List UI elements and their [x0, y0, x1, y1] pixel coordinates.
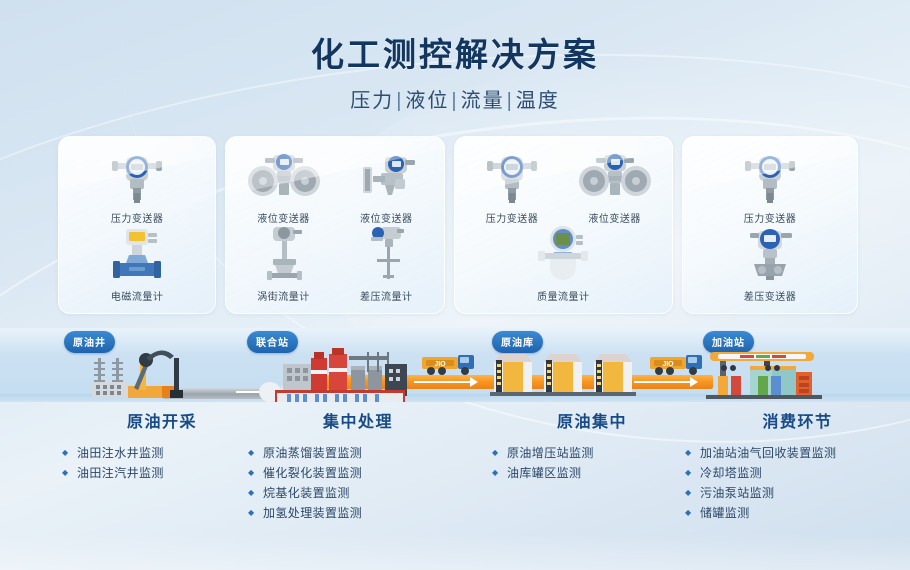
truck-label: JIO	[434, 361, 446, 368]
product-label: 液位变送器	[588, 210, 641, 225]
product-label: 液位变送器	[257, 210, 310, 225]
stage-block-2: 集中处理 原油蒸馏装置监测 催化裂化装置监测 烷基化装置监测 加氢处理装置监测	[248, 408, 468, 523]
product-label: 质量流量计	[537, 288, 590, 303]
poster-canvas: 化工测控解决方案 压力|液位|流量|温度	[0, 0, 910, 570]
subtitle-pressure: 压力	[350, 90, 394, 112]
list-item: 加氢处理装置监测	[248, 503, 468, 523]
subtitle-flow: 流量	[461, 90, 505, 112]
product-item[interactable]: 压力变送器	[719, 147, 821, 225]
flow-arrow-icon	[634, 381, 690, 383]
page-header: 化工测控解决方案 压力|液位|流量|温度	[0, 36, 910, 113]
stage-block-1: 原油开采 油田注水井监测 油田注汽井监测	[62, 408, 262, 483]
flow-arrow-icon	[414, 381, 470, 383]
product-item[interactable]: 液位变送器	[233, 147, 335, 225]
product-item[interactable]: 涡街流量计	[233, 225, 335, 303]
page-subtitle: 压力|液位|流量|温度	[0, 84, 910, 113]
subtitle-separator-1: |	[394, 90, 405, 112]
product-label: 压力变送器	[486, 210, 539, 225]
list-item: 冷却塔监测	[685, 463, 910, 483]
pressure-transmitter-icon	[483, 147, 541, 205]
product-card-4[interactable]: 压力变送器	[682, 136, 858, 314]
list-item: 烷基化装置监测	[248, 483, 468, 503]
product-item[interactable]: 压力变送器	[461, 147, 563, 225]
bottom-fade	[0, 534, 910, 570]
stage-title: 集中处理	[248, 408, 468, 432]
list-item: 污油泵站监测	[685, 483, 910, 503]
product-label: 压力变送器	[744, 210, 797, 225]
list-item: 油库罐区监测	[492, 463, 692, 483]
list-item: 油田注汽井监测	[62, 463, 262, 483]
list-item: 原油蒸馏装置监测	[248, 443, 468, 463]
list-item: 加油站油气回收装置监测	[685, 443, 910, 463]
product-item[interactable]: 压力变送器	[86, 147, 188, 225]
product-row: 压力变送器	[65, 147, 209, 225]
product-item[interactable]: 电磁流量计	[86, 225, 188, 303]
level-transmitter-flange-icon	[245, 147, 323, 205]
stage-bullet-list: 原油蒸馏装置监测 催化裂化装置监测 烷基化装置监测 加氢处理装置监测	[248, 443, 468, 523]
product-row: 涡街流量计	[232, 225, 437, 303]
stage-block-4: 消费环节 加油站油气回收装置监测 冷却塔监测 污油泵站监测 储罐监测	[685, 408, 910, 523]
stage-bullet-list: 油田注水井监测 油田注汽井监测	[62, 443, 262, 483]
subtitle-separator-2: |	[449, 90, 460, 112]
stage-title: 原油开采	[62, 408, 262, 432]
product-label: 差压流量计	[360, 288, 413, 303]
stage-bullet-list: 加油站油气回收装置监测 冷却塔监测 污油泵站监测 储罐监测	[685, 443, 910, 523]
differential-pressure-transmitter-icon	[740, 225, 800, 283]
product-row: 质量流量计	[461, 225, 666, 303]
page-title: 化工测控解决方案	[0, 36, 910, 74]
product-card-2[interactable]: 液位变送器	[225, 136, 444, 314]
subtitle-temperature: 温度	[516, 90, 560, 112]
vortex-flowmeter-icon	[255, 225, 313, 283]
process-flow-illustration: 原油井 联合站	[0, 328, 910, 402]
product-item[interactable]: 质量流量计	[512, 225, 614, 303]
list-item: 储罐监测	[685, 503, 910, 523]
product-row: 差压变送器	[689, 225, 851, 303]
product-label: 差压变送器	[744, 288, 797, 303]
subtitle-separator-3: |	[505, 90, 516, 112]
product-card-row: 压力变送器	[58, 136, 858, 314]
product-row: 压力变送器	[461, 147, 666, 225]
gas-station-illustration	[700, 346, 840, 402]
list-item: 油田注水井监测	[62, 443, 262, 463]
tanker-truck-icon: JIO	[420, 354, 478, 376]
list-item: 原油增压站监测	[492, 443, 692, 463]
product-label: 压力变送器	[111, 210, 164, 225]
product-row: 液位变送器	[232, 147, 437, 225]
differential-pressure-flowmeter-icon	[357, 225, 415, 283]
product-card-1[interactable]: 压力变送器	[58, 136, 216, 314]
mass-flowmeter-icon	[532, 225, 594, 283]
product-item[interactable]: 液位变送器	[564, 147, 666, 225]
level-transmitter-flange-icon	[576, 147, 654, 205]
product-item[interactable]: 差压流量计	[335, 225, 437, 303]
product-item[interactable]: 差压变送器	[719, 225, 821, 303]
level-transmitter-single-flange-icon	[351, 147, 421, 205]
electromagnetic-flowmeter-icon	[107, 225, 167, 283]
pressure-transmitter-icon	[741, 147, 799, 205]
tanker-truck-icon: JIO	[648, 354, 706, 376]
product-card-3[interactable]: 压力变送器	[454, 136, 673, 314]
tank-farm-illustration	[490, 350, 640, 402]
product-row: 电磁流量计	[65, 225, 209, 303]
refinery-illustration	[255, 346, 415, 402]
stage-block-3: 原油集中 原油增压站监测 油库罐区监测	[492, 408, 692, 483]
product-row: 压力变送器	[689, 147, 851, 225]
product-item[interactable]: 液位变送器	[335, 147, 437, 225]
subtitle-level: 液位	[405, 90, 449, 112]
product-label: 液位变送器	[360, 210, 413, 225]
stage-bullet-list: 原油增压站监测 油库罐区监测	[492, 443, 692, 483]
pressure-transmitter-icon	[108, 147, 166, 205]
list-item: 催化裂化装置监测	[248, 463, 468, 483]
stage-title: 原油集中	[492, 408, 692, 432]
stage-title: 消费环节	[685, 408, 910, 432]
oil-well-illustration	[88, 346, 206, 402]
product-label: 涡街流量计	[257, 288, 310, 303]
product-label: 电磁流量计	[111, 288, 164, 303]
truck-label: JIO	[662, 361, 674, 368]
